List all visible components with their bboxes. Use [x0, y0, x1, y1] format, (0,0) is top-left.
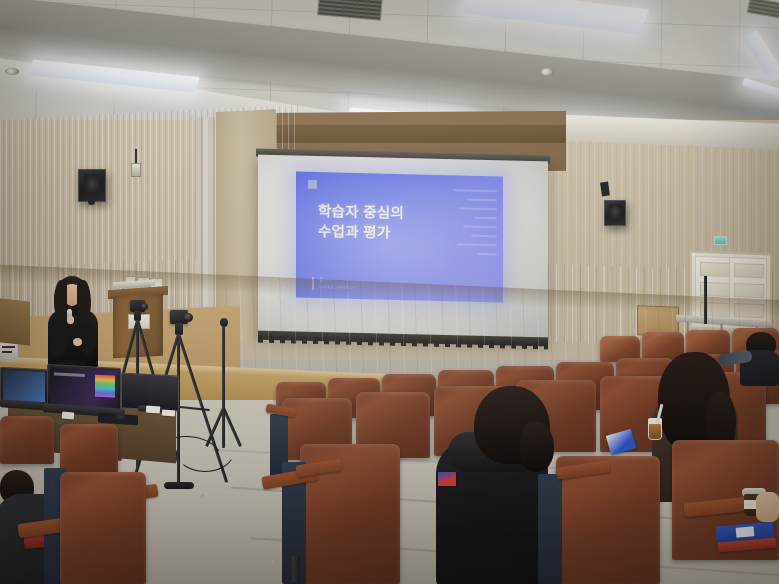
- slide-text-line: [459, 207, 497, 210]
- slide-logo-icon: [308, 180, 317, 189]
- slide-text-line: [471, 235, 497, 238]
- seat-pedestal: [292, 556, 300, 582]
- side-table: [0, 298, 30, 345]
- blue-item-center: [438, 472, 456, 486]
- desk-paper-2: [146, 406, 160, 414]
- door-panel: [734, 283, 763, 298]
- slide-text-line: [453, 189, 497, 192]
- attendee-hand-right: [756, 492, 779, 522]
- computer-mouse[interactable]: [116, 413, 125, 419]
- door-panel: [734, 263, 763, 278]
- color-palette-panel: [95, 375, 115, 398]
- wall-speaker-right: [604, 200, 626, 226]
- attendee-center-hair-strand: [520, 422, 554, 472]
- light-stand-leg: [222, 407, 242, 447]
- light-stand-right: [196, 318, 276, 458]
- seat-left-far[interactable]: [60, 424, 118, 476]
- door-panel: [700, 262, 729, 277]
- seat-back: [60, 424, 118, 476]
- seat-back: [60, 472, 146, 584]
- presenter-hand-gesture: [73, 338, 82, 346]
- iced-coffee-liquid: [649, 424, 661, 439]
- presenter-hair-left: [54, 280, 67, 320]
- laptop-left-screen: [3, 370, 45, 402]
- seat-side-panel: [538, 474, 562, 584]
- desk-sign-text: [2, 346, 15, 348]
- desk-paper-3: [162, 410, 175, 417]
- slide-text-line: [467, 199, 497, 202]
- tripod-foot-plate: [164, 482, 194, 489]
- slide-text-line: [457, 243, 497, 246]
- auditorium-photo: 학습자 중심의 수업과 평가 김 ○ ○ ○○대학교 교육학과 교수: [0, 0, 779, 584]
- ceiling-cable-box: [131, 163, 141, 177]
- seat-left-far[interactable]: [0, 416, 54, 464]
- laptop-center-screen: [50, 367, 118, 409]
- laptop-screen-toolbar: [54, 372, 85, 377]
- slide-text-line: [475, 217, 497, 220]
- book-cover-graphic: [736, 526, 755, 538]
- presenter-hand-holding-mic: [67, 316, 74, 324]
- slide-decorative-text: [437, 189, 497, 255]
- wall-speaker-left: [78, 169, 106, 202]
- wall-speaker-left-bracket: [88, 199, 95, 205]
- seat-near-left[interactable]: [60, 472, 146, 584]
- desk-paper-1: [62, 411, 75, 419]
- camera-lens-center: [184, 313, 193, 322]
- camera-lens-left: [141, 303, 148, 310]
- light-stand-leg: [222, 408, 225, 448]
- sprinkler-head-1: [5, 68, 19, 75]
- sprinkler-head-4: [540, 68, 554, 76]
- exit-sign-icon: [714, 236, 727, 245]
- presenter-hair-right: [77, 280, 91, 322]
- slide-text-line: [463, 225, 497, 228]
- desk-sign-text: [2, 351, 12, 353]
- seat-back: [0, 416, 54, 464]
- presenter-speaking: [46, 276, 108, 368]
